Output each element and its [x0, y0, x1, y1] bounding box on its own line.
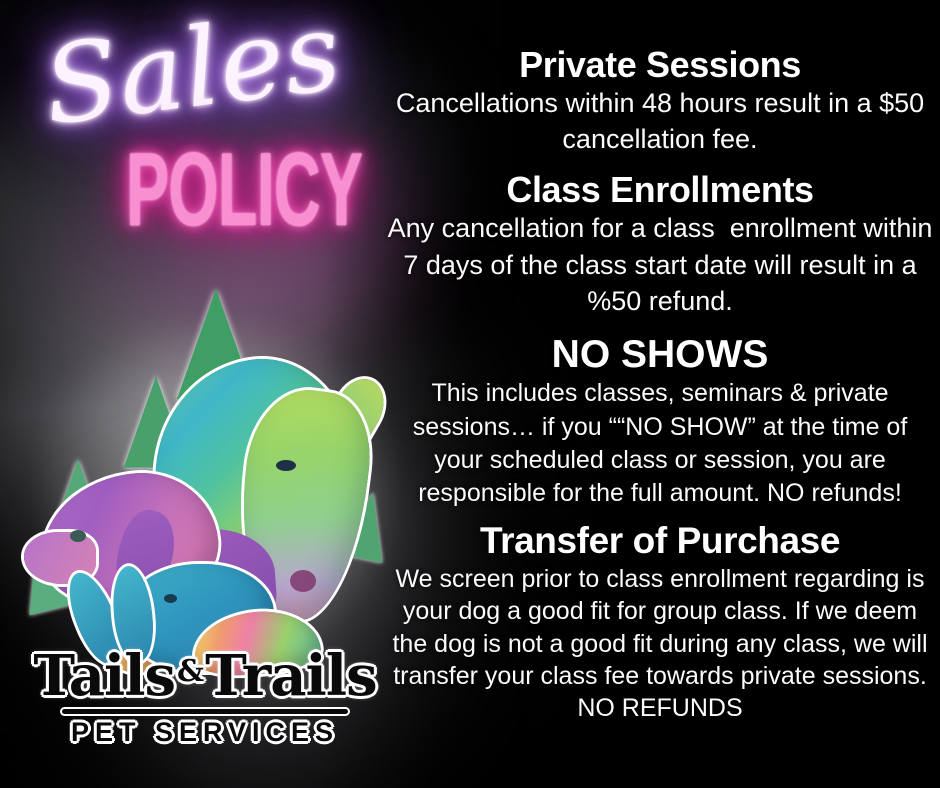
- section-body: This includes classes, seminars & privat…: [386, 377, 934, 510]
- section-body: We screen prior to class enrollment rega…: [386, 563, 934, 693]
- horse-eye-shape: [276, 460, 296, 471]
- section-heading: Private Sessions: [386, 44, 934, 85]
- brand-logo: Tails&Trails PET SERVICES: [30, 648, 380, 748]
- policy-section-transfer-of-purchase: Transfer of Purchase We screen prior to …: [386, 520, 934, 723]
- section-heading: Transfer of Purchase: [386, 520, 934, 562]
- section-body: Any cancellation for a class enrollment …: [386, 210, 934, 319]
- title-bold-policy: POLICY: [126, 138, 362, 242]
- horse-muzzle-shape: [290, 570, 316, 592]
- brand-name-part2: Trails: [205, 643, 376, 709]
- policy-text-column: Private Sessions Cancellations within 48…: [386, 44, 934, 726]
- policy-section-no-shows: NO SHOWS This includes classes, seminars…: [386, 333, 934, 510]
- title-script-sales: Sales: [39, 0, 347, 142]
- dog-eye-shape: [70, 530, 86, 542]
- spacer: [386, 321, 934, 333]
- brand-divider-rule: [62, 709, 348, 714]
- brand-name-part1: Tails: [33, 643, 175, 709]
- spacer: [386, 159, 934, 169]
- section-body: Cancellations within 48 hours result in …: [386, 85, 934, 157]
- policy-section-private-sessions: Private Sessions Cancellations within 48…: [386, 44, 934, 157]
- animal-artwork: [14, 282, 414, 662]
- poster-title: Sales POLICY: [18, 10, 438, 260]
- brand-ampersand: &: [175, 654, 205, 689]
- policy-section-class-enrollments: Class Enrollments Any cancellation for a…: [386, 169, 934, 319]
- section-heading: Class Enrollments: [386, 169, 934, 210]
- sales-policy-poster: Sales POLICY Tails&Trails PET SERVICES: [0, 0, 940, 788]
- rabbit-eye-shape: [164, 594, 177, 603]
- brand-name: Tails&Trails: [30, 648, 380, 705]
- brand-tagline: PET SERVICES: [30, 717, 380, 748]
- section-heading: NO SHOWS: [386, 333, 934, 377]
- section-footer-no-refunds: NO REFUNDS: [386, 693, 934, 724]
